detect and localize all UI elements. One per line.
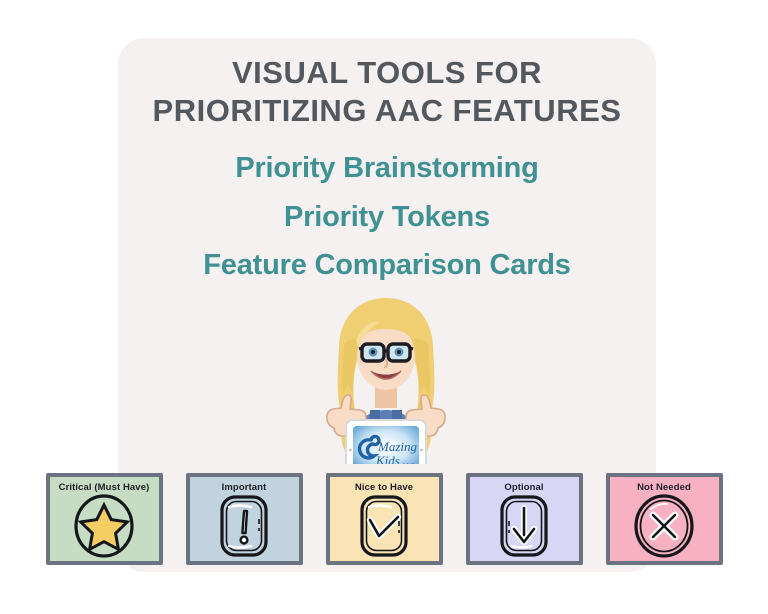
priority-card-optional[interactable]: Optional	[466, 473, 583, 565]
subtitle-line-2: Priority Tokens	[118, 193, 656, 242]
down-arrow-icon	[470, 491, 579, 561]
avatar-svg: Mazing Kids LLC	[318, 292, 454, 464]
title-line-1: VISUAL TOOLS FOR	[118, 54, 656, 92]
logo-text-bottom: Kids	[375, 453, 400, 464]
star-in-circle-icon	[50, 491, 159, 561]
priority-card-row: Critical (Must Have) Important Nice to H	[0, 473, 768, 567]
avatar-illustration: Mazing Kids LLC	[318, 292, 454, 464]
priority-card-nice-to-have[interactable]: Nice to Have	[326, 473, 443, 565]
subtitle-list: Priority Brainstorming Priority Tokens F…	[118, 144, 656, 290]
priority-card-important[interactable]: Important	[186, 473, 303, 565]
subtitle-line-1: Priority Brainstorming	[118, 144, 656, 193]
exclamation-mark-icon	[190, 491, 299, 561]
priority-card-critical[interactable]: Critical (Must Have)	[46, 473, 163, 565]
x-mark-in-circle-icon	[610, 491, 719, 561]
title-line-2: PRIORITIZING AAC FEATURES	[118, 92, 656, 130]
checkmark-icon	[330, 491, 439, 561]
page-title: VISUAL TOOLS FOR PRIORITIZING AAC FEATUR…	[118, 54, 656, 130]
subtitle-line-3: Feature Comparison Cards	[118, 241, 656, 290]
logo-text-suffix: LLC	[403, 463, 414, 464]
priority-card-not-needed[interactable]: Not Needed	[606, 473, 723, 565]
logo-text-top: Mazing	[377, 439, 418, 454]
